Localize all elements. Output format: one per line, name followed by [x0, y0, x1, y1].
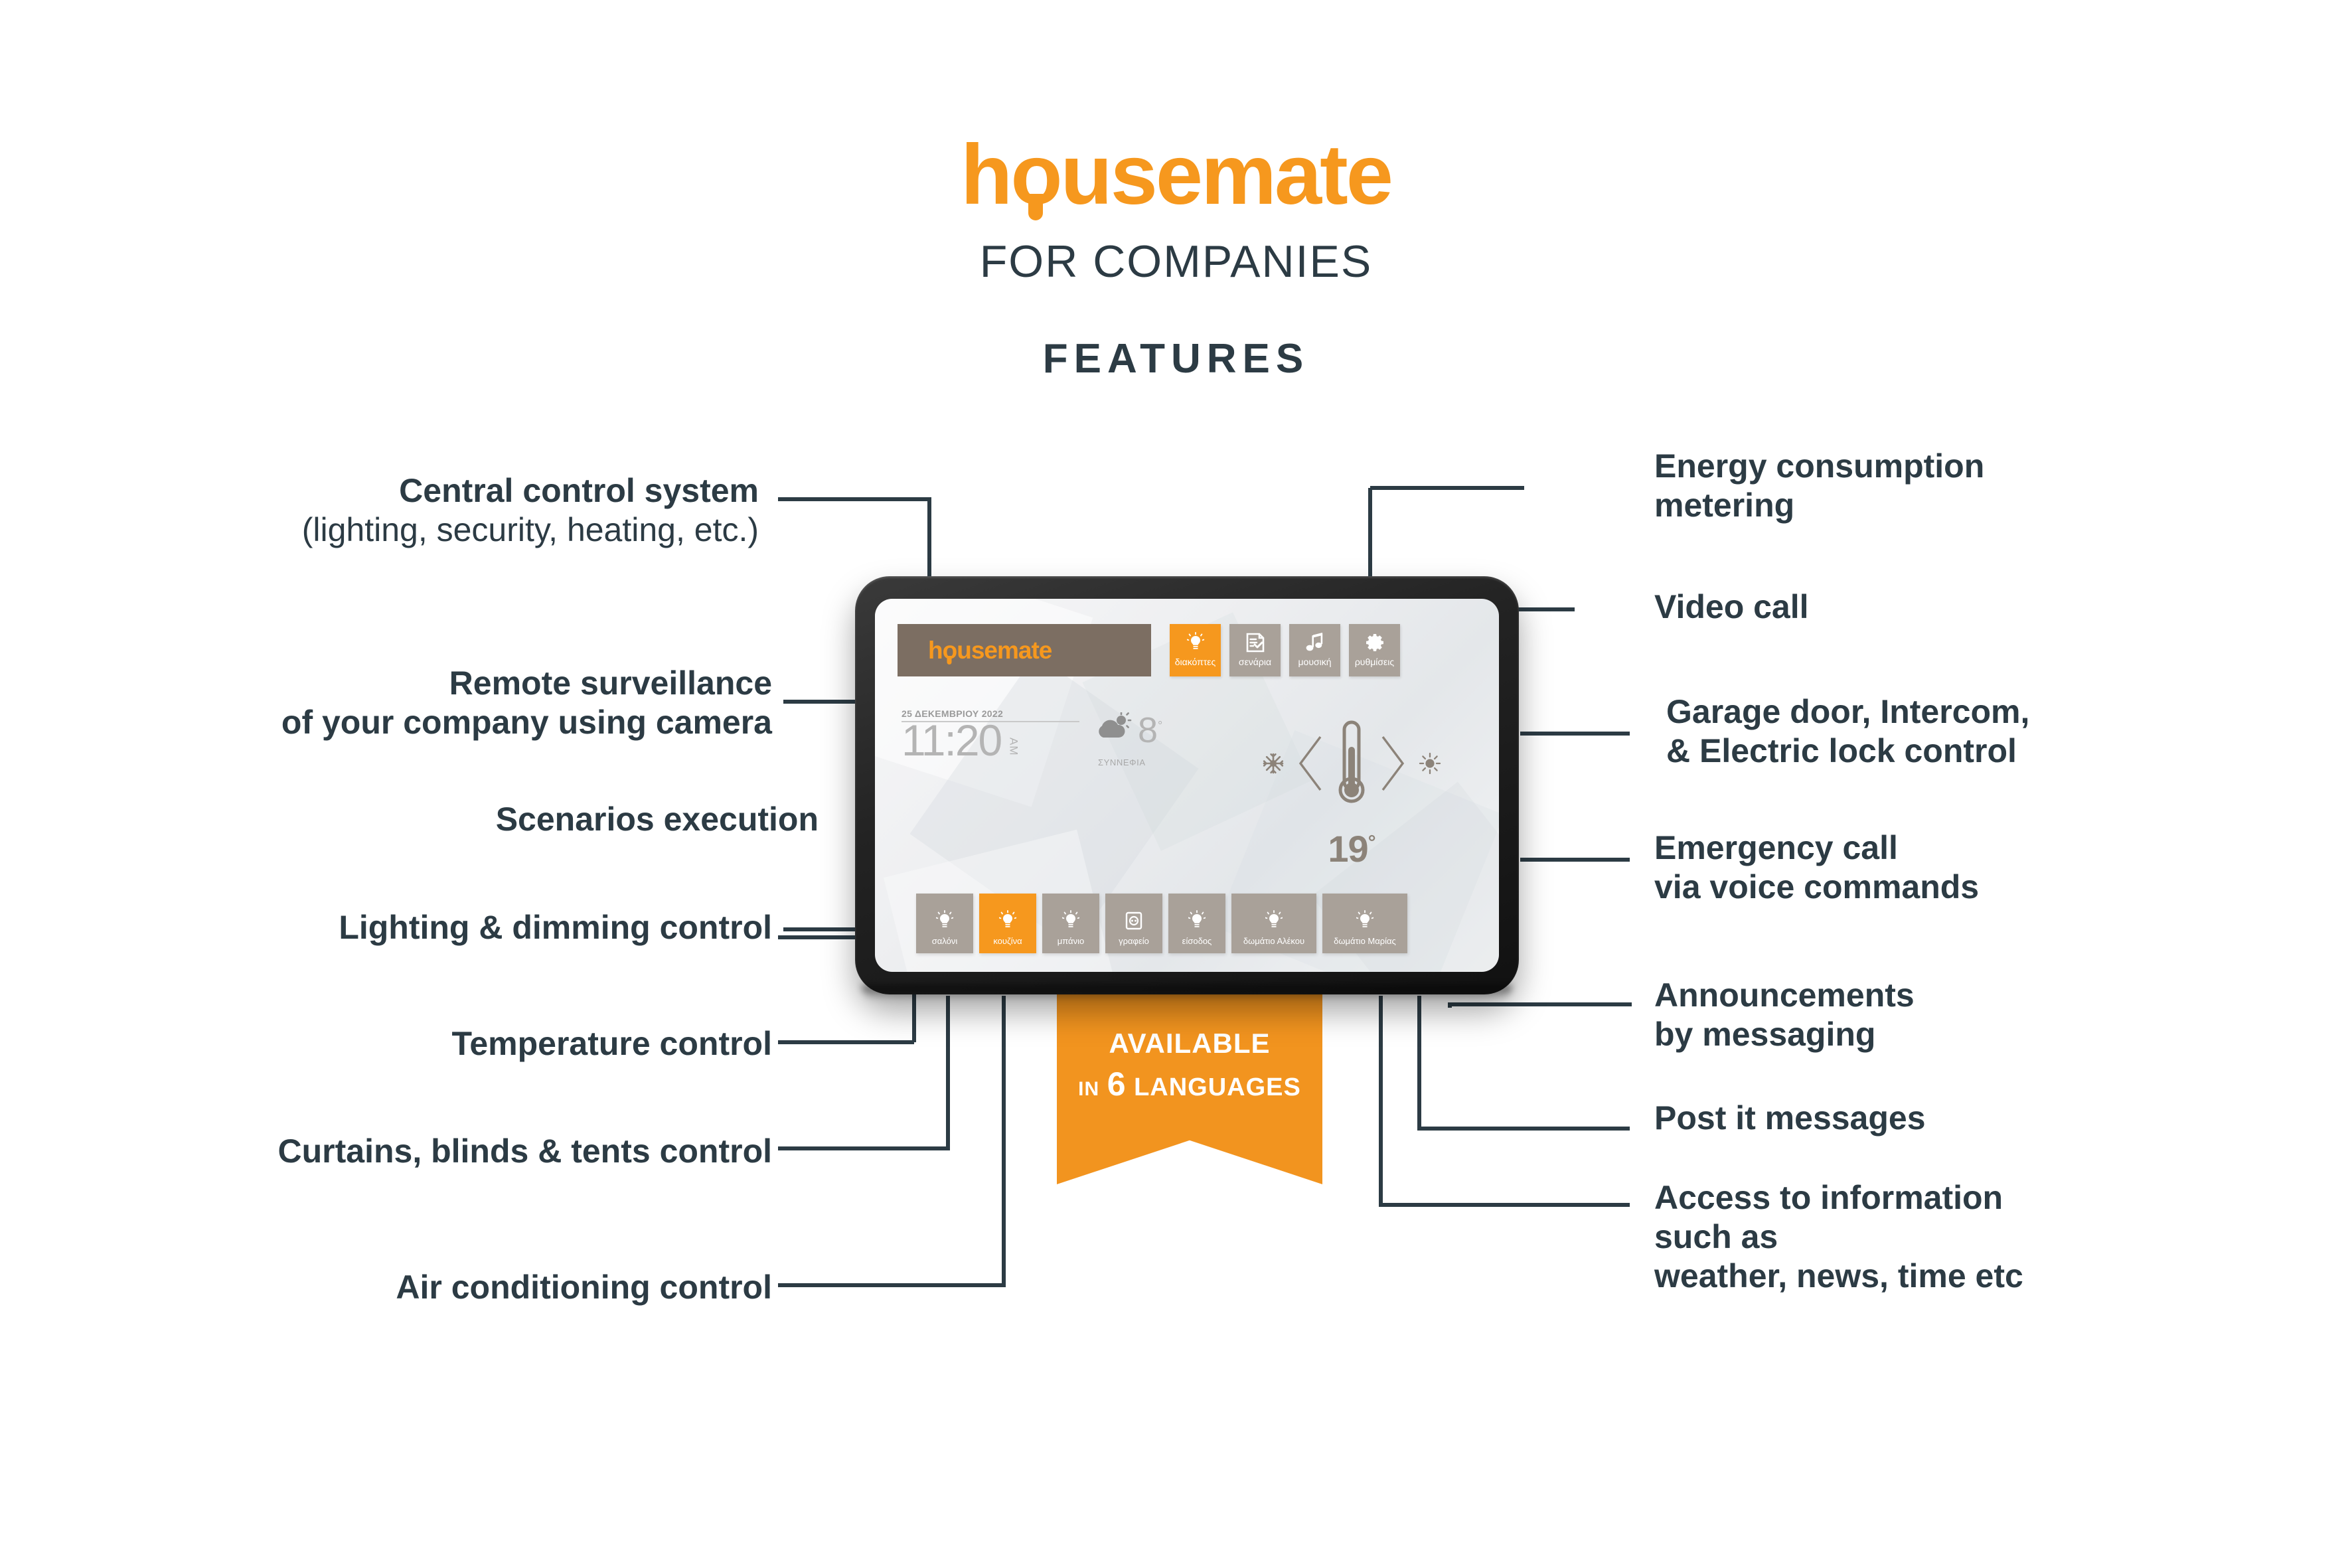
room-tile-label: δωμάτιο Μαρίας: [1334, 936, 1396, 946]
app-weather: 8°: [1094, 712, 1162, 748]
scenario-icon: [1245, 630, 1265, 655]
app-time: 11:20 AM: [902, 720, 1001, 761]
callout-post-it-messages: Post it messages: [1654, 1099, 1926, 1138]
tablet-screen: housemate: [875, 599, 1499, 972]
ribbon-line2: IN 6 LANGUAGES: [1078, 1065, 1301, 1103]
callout-announcements: Announcements by messaging: [1654, 976, 1915, 1054]
nav-tile-switches[interactable]: διακόπτες: [1170, 624, 1221, 676]
snowflake-icon: [1262, 752, 1285, 778]
callout-remote-surveillance: Remote surveillance of your company usin…: [281, 664, 772, 742]
lightbulb-icon: [1187, 630, 1204, 655]
socket-icon: [1125, 901, 1143, 931]
nav-tile-label: ρυθμίσεις: [1355, 657, 1394, 667]
room-tile-salon[interactable]: σαλόνι: [916, 894, 973, 953]
room-tile-office[interactable]: γραφείο: [1105, 894, 1162, 953]
lightbulb-icon: [1265, 901, 1283, 931]
app-ampm: AM: [1008, 738, 1018, 756]
callout-central-control: Central control system (lighting, securi…: [302, 471, 759, 550]
callout-curtains-blinds: Curtains, blinds & tents control: [278, 1132, 772, 1171]
app-thermostat-value: 19°: [1252, 827, 1451, 870]
callout-emergency-call: Emergency call via voice commands: [1654, 828, 1979, 907]
ribbon-languages: LANGUAGES: [1134, 1073, 1301, 1101]
room-tile-label: δωμάτιο Αλέκου: [1243, 936, 1304, 946]
nav-tile-label: μουσική: [1298, 657, 1331, 667]
nav-tile-scenarios[interactable]: σενάρια: [1229, 624, 1281, 676]
nav-tile-label: σενάρια: [1239, 657, 1271, 667]
room-tile-label: μπάνιο: [1058, 936, 1084, 946]
ribbon-count: 6: [1107, 1065, 1127, 1103]
lightbulb-icon: [999, 901, 1016, 931]
callout-scenarios-execution: Scenarios execution: [496, 800, 819, 839]
wire-announcements: [1450, 1004, 1632, 1008]
room-tile-bathroom[interactable]: μπάνιο: [1042, 894, 1099, 953]
gear-icon: [1366, 630, 1384, 655]
music-note-icon: [1306, 630, 1324, 655]
chevron-left-icon[interactable]: [1295, 733, 1324, 797]
room-tile-entrance[interactable]: είσοδος: [1168, 894, 1225, 953]
app-room-tiles: σαλόνι κουζίνα: [916, 894, 1407, 953]
ribbon-in: IN: [1078, 1078, 1099, 1100]
wire-airconditioning: [778, 996, 1004, 1285]
callout-energy-metering: Energy consumption metering: [1654, 447, 1984, 525]
room-tile-label: είσοδος: [1182, 936, 1212, 946]
callout-air-conditioning: Air conditioning control: [396, 1268, 772, 1307]
room-tile-label: σαλόνι: [932, 936, 957, 946]
chevron-right-icon[interactable]: [1379, 733, 1408, 797]
cloud-sun-icon: [1094, 712, 1134, 746]
nav-tile-label: διακόπτες: [1175, 657, 1216, 667]
room-tile-maria-room[interactable]: δωμάτιο Μαρίας: [1322, 894, 1407, 953]
app-top-nav: διακόπτες σενάρια: [1170, 624, 1400, 676]
app-thermostat: 19°: [1252, 698, 1451, 884]
thermometer-icon: [1331, 717, 1372, 813]
app-info-panel: 25 ΔΕΚΕΜΒΡΙΟΥ 2022 11:20 AM: [902, 708, 1167, 761]
room-tile-label: γραφείο: [1119, 936, 1149, 946]
callout-video-call: Video call: [1654, 588, 1809, 627]
ribbon-line1: AVAILABLE: [1109, 1028, 1270, 1059]
lightbulb-icon: [936, 901, 953, 931]
lightbulb-icon: [1356, 901, 1373, 931]
sun-icon: [1419, 752, 1441, 778]
tablet-device: housemate: [855, 576, 1519, 994]
lightbulb-icon: [1188, 901, 1206, 931]
callout-temperature-control: Temperature control: [452, 1024, 773, 1063]
room-tile-alekos-room[interactable]: δωμάτιο Αλέκου: [1231, 894, 1316, 953]
app-logo: housemate: [928, 637, 1052, 665]
app-brand-bar: housemate: [898, 624, 1151, 676]
nav-tile-settings[interactable]: ρυθμίσεις: [1349, 624, 1400, 676]
lightbulb-icon: [1062, 901, 1079, 931]
callout-lighting-dimming: Lighting & dimming control: [339, 908, 772, 947]
nav-tile-music[interactable]: μουσική: [1289, 624, 1340, 676]
callout-access-information: Access to information such as weather, n…: [1654, 1178, 2023, 1296]
wire-post-it: [1419, 996, 1630, 1129]
callout-garage-intercom-lock: Garage door, Intercom, & Electric lock c…: [1666, 692, 2029, 771]
wire-curtains: [778, 996, 948, 1148]
app-weather-condition: ΣΥΝΝΕΦΙΑ: [1098, 757, 1146, 767]
app-outdoor-temp: 8°: [1138, 712, 1162, 748]
room-tile-kitchen[interactable]: κουζίνα: [979, 894, 1036, 953]
room-tile-label: κουζίνα: [993, 936, 1022, 946]
